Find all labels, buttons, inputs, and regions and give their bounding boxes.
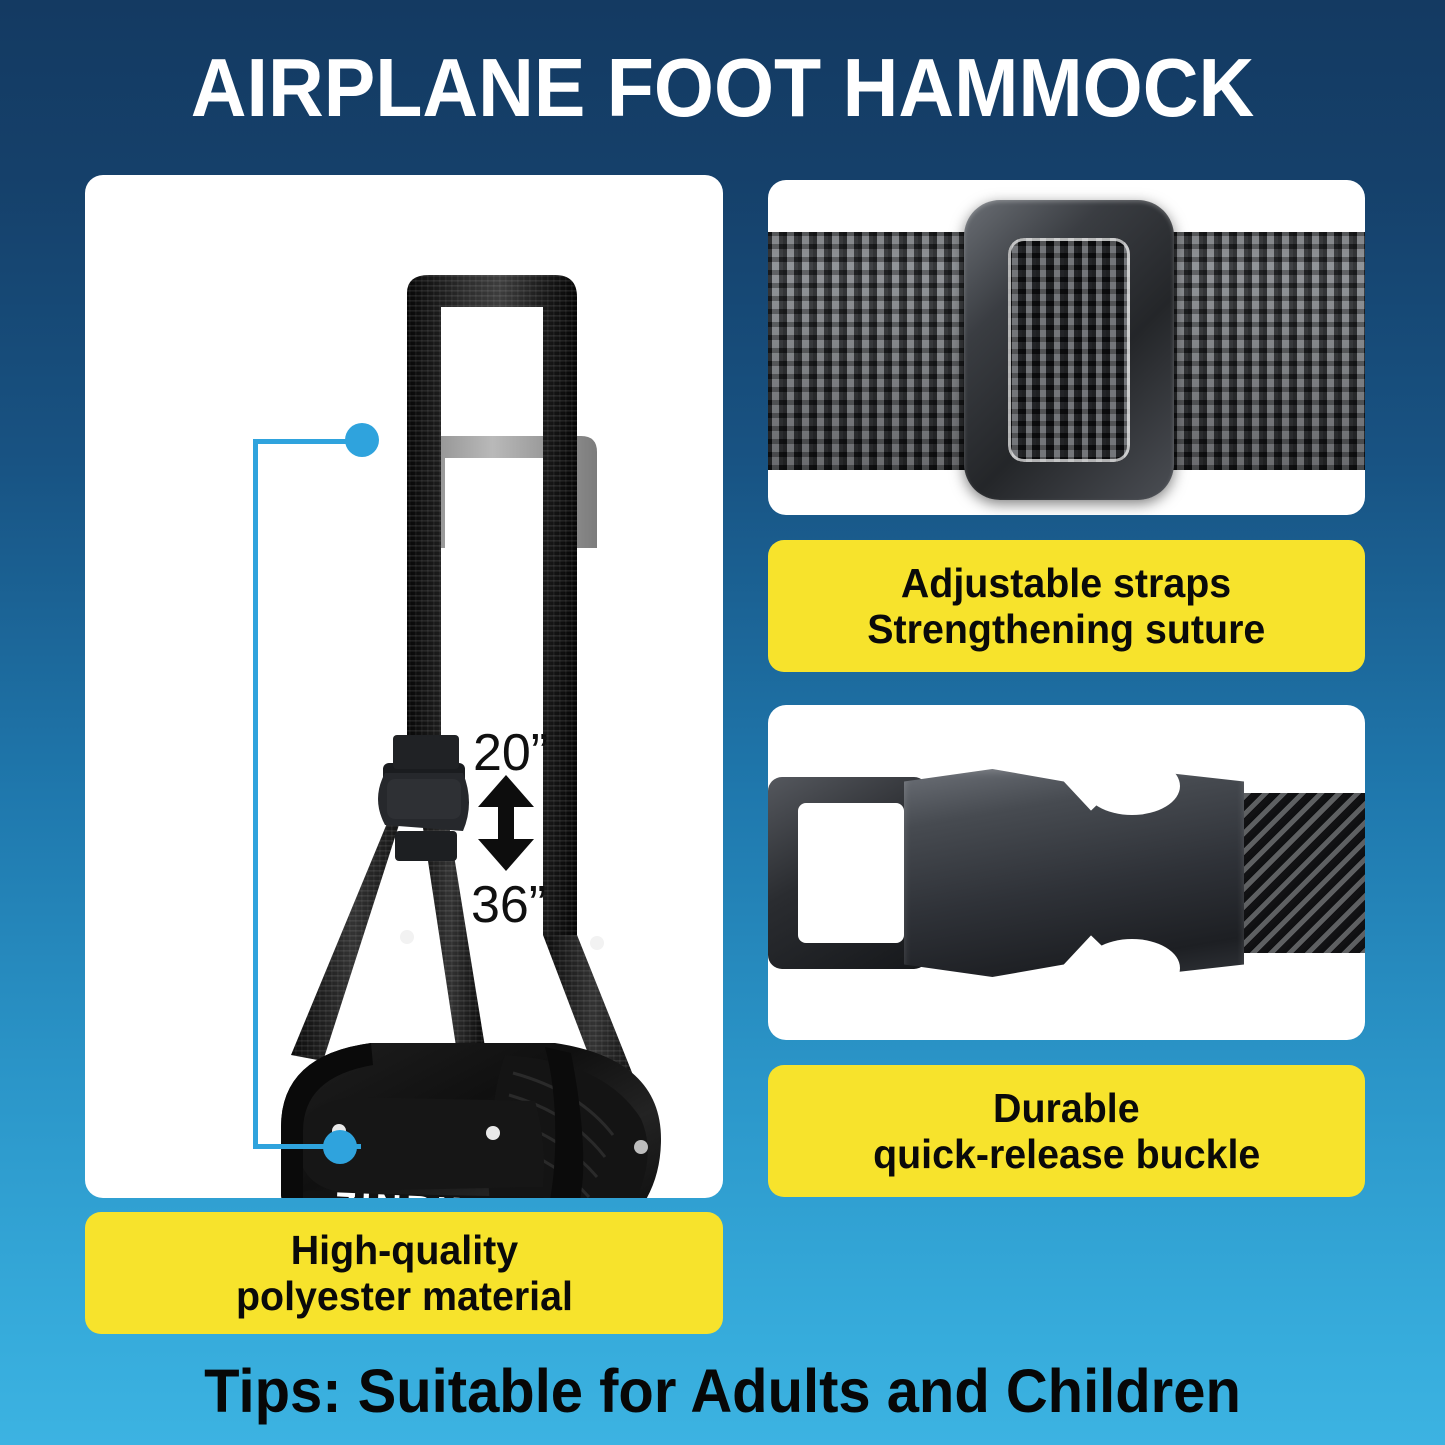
callout-quick-release-buckle: Durable quick-release buckle [768, 1065, 1365, 1197]
callout-adjustable-straps: Adjustable straps Strengthening suture [768, 540, 1365, 672]
buckle-release-notch-top [1084, 757, 1180, 815]
dimension-label-bottom: 36” [471, 875, 546, 935]
callout-line-1: Durable [993, 1085, 1140, 1131]
callout-line-2: quick-release buckle [873, 1131, 1260, 1177]
buckle-slot [798, 803, 904, 943]
callout-line-1: High-quality [290, 1227, 517, 1273]
bracket-top-dot [345, 423, 379, 457]
buckle-release-notch-bottom [1084, 939, 1180, 997]
buckle-assembly [768, 763, 1365, 985]
page-title: AIRPLANE FOOT HAMMOCK [51, 46, 1395, 131]
bracket-vertical-line [253, 439, 258, 1149]
double-headed-vertical-arrow-icon [474, 773, 538, 873]
quick-release-buckle-photo-card [768, 705, 1365, 1040]
adjustable-strap-photo-card [768, 180, 1365, 515]
callout-line-2: polyester material [236, 1273, 573, 1319]
infographic-canvas: AIRPLANE FOOT HAMMOCK [0, 0, 1445, 1445]
black-strap-assembly [85, 175, 723, 1198]
tips-footer-text: Tips: Suitable for Adults and Children [36, 1356, 1409, 1426]
slide-adjuster-buckle [964, 200, 1174, 500]
main-product-photo-card: ZINBINK 20” 36” [85, 175, 723, 1198]
bracket-bottom-dot [323, 1130, 357, 1164]
callout-polyester-material: High-quality polyester material [85, 1212, 723, 1334]
adjuster-window-webbing [1008, 238, 1130, 462]
measurement-bracket [253, 433, 363, 1155]
buckle-body [904, 769, 1244, 977]
callout-line-2: Strengthening suture [867, 606, 1265, 652]
callout-line-1: Adjustable straps [901, 560, 1231, 606]
